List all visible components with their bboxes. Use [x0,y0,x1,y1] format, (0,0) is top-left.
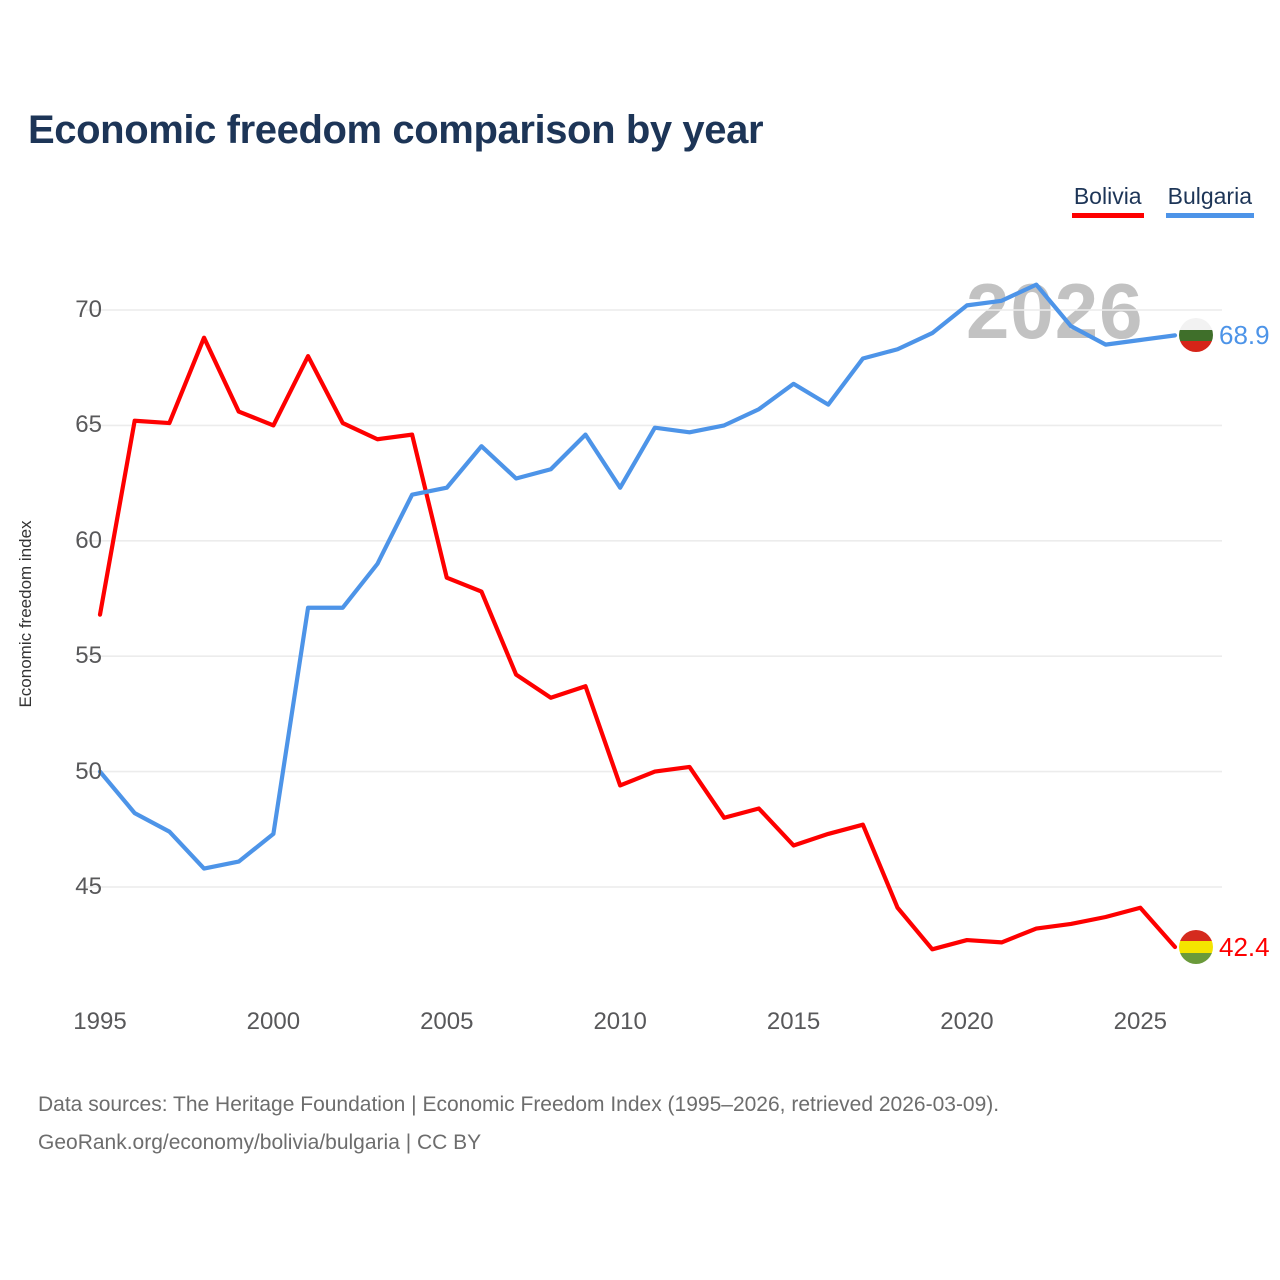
series-lines [100,285,1175,950]
footer-line-1: Data sources: The Heritage Foundation | … [38,1086,999,1124]
end-marker-bolivia[interactable]: 42.4 [1179,930,1270,964]
series-line-bolivia[interactable] [100,338,1175,950]
bulgaria-flag-icon [1179,318,1213,352]
end-marker-bulgaria[interactable]: 68.9 [1179,318,1270,352]
y-tick-label: 55 [42,642,102,670]
y-tick-label: 60 [42,527,102,555]
footer-line-2: GeoRank.org/economy/bolivia/bulgaria | C… [38,1124,999,1162]
x-tick-label: 1995 [73,1008,126,1036]
y-tick-label: 65 [42,411,102,439]
end-value-bulgaria: 68.9 [1219,320,1270,351]
y-tick-label: 45 [42,873,102,901]
footer: Data sources: The Heritage Foundation | … [38,1086,999,1162]
bolivia-flag-icon [1179,930,1213,964]
x-tick-label: 2010 [593,1008,646,1036]
x-tick-label: 2000 [247,1008,300,1036]
chart-page: Economic freedom comparison by year Boli… [0,0,1280,1280]
gridlines [86,310,1222,887]
series-line-bulgaria[interactable] [100,285,1175,869]
x-tick-label: 2020 [940,1008,993,1036]
y-axis-label: Economic freedom index [16,520,36,707]
y-tick-label: 50 [42,758,102,786]
x-tick-label: 2015 [767,1008,820,1036]
y-tick-label: 70 [42,296,102,324]
x-tick-label: 2025 [1114,1008,1167,1036]
x-tick-label: 2005 [420,1008,473,1036]
end-value-bolivia: 42.4 [1219,932,1270,963]
